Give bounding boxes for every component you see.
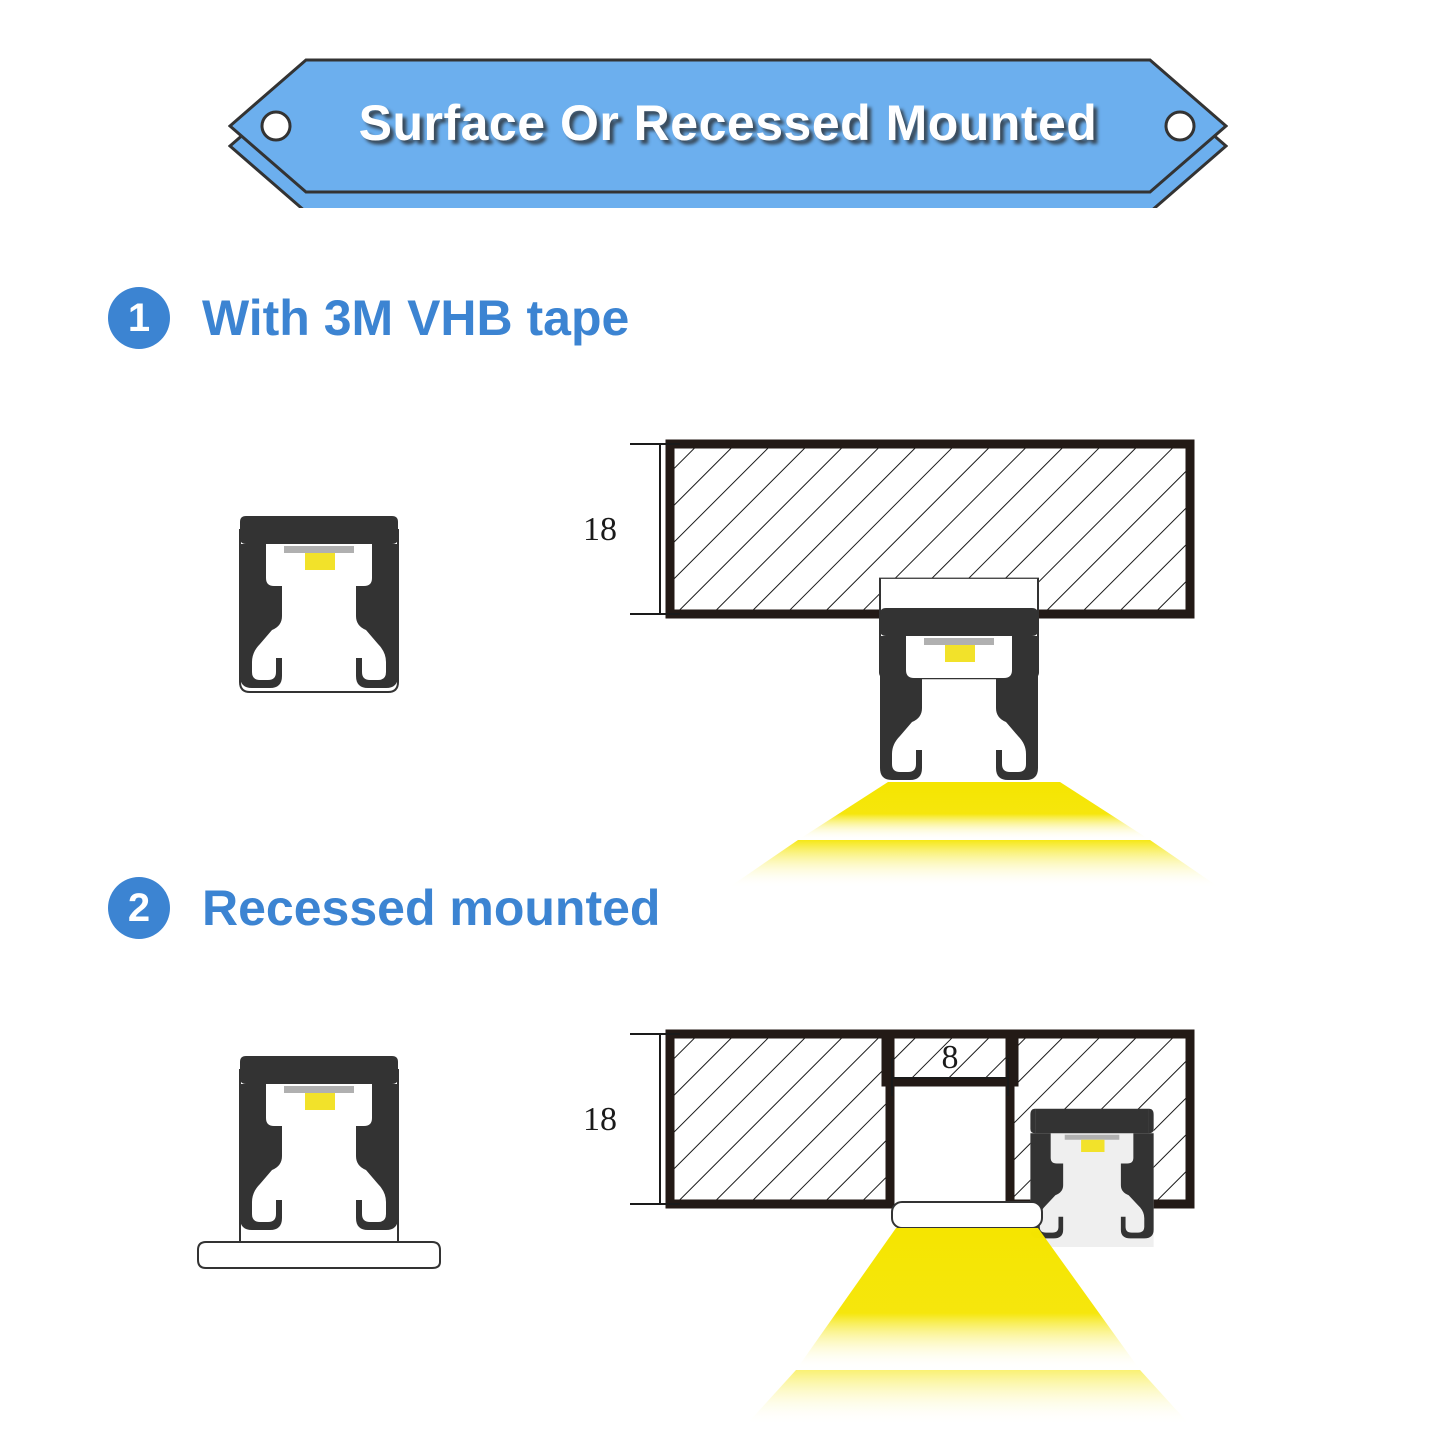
banner: Surface Or Recessed Mounted — [228, 58, 1228, 208]
dimension-ceiling-thickness: 18 — [583, 444, 680, 614]
step-number-badge-1: 1 — [108, 287, 170, 349]
step-title-2: Recessed mounted — [202, 879, 660, 937]
banner-main-layer — [230, 60, 1226, 192]
figure-surface-mount: 18 — [60, 420, 1390, 840]
light-cone-icon — [728, 840, 1220, 888]
light-cone-icon — [746, 1370, 1190, 1425]
led-channel-recessed-profile-icon — [1030, 1109, 1153, 1247]
diagram-canvas: Surface Or Recessed Mounted 1 With 3M VH… — [0, 0, 1445, 1445]
rivet-hole-icon — [262, 112, 290, 140]
led-channel-profile-icon — [240, 516, 398, 692]
figure-recessed-mount: 18 8 — [60, 1010, 1390, 1370]
rivet-hole-icon — [1166, 112, 1194, 140]
led-channel-recessed-profile-icon — [198, 1056, 440, 1268]
step-number-badge-2: 2 — [108, 877, 170, 939]
diffuser-flange — [892, 1202, 1042, 1228]
led-channel-profile-icon — [880, 578, 1038, 780]
step-title-1: With 3M VHB tape — [202, 289, 629, 347]
dimension-label-8: 8 — [942, 1039, 959, 1076]
banner-shape — [228, 58, 1228, 208]
step-heading-2: 2 Recessed mounted — [108, 877, 660, 939]
dimension-label-18: 18 — [583, 1101, 617, 1138]
light-cone-extension-2 — [60, 1370, 1390, 1445]
dimension-label-18: 18 — [583, 511, 617, 548]
dimension-ceiling-thickness: 18 — [583, 1034, 680, 1204]
step-heading-1: 1 With 3M VHB tape — [108, 287, 629, 349]
light-cone-icon — [798, 782, 1150, 840]
light-cone-icon — [796, 1228, 1140, 1370]
